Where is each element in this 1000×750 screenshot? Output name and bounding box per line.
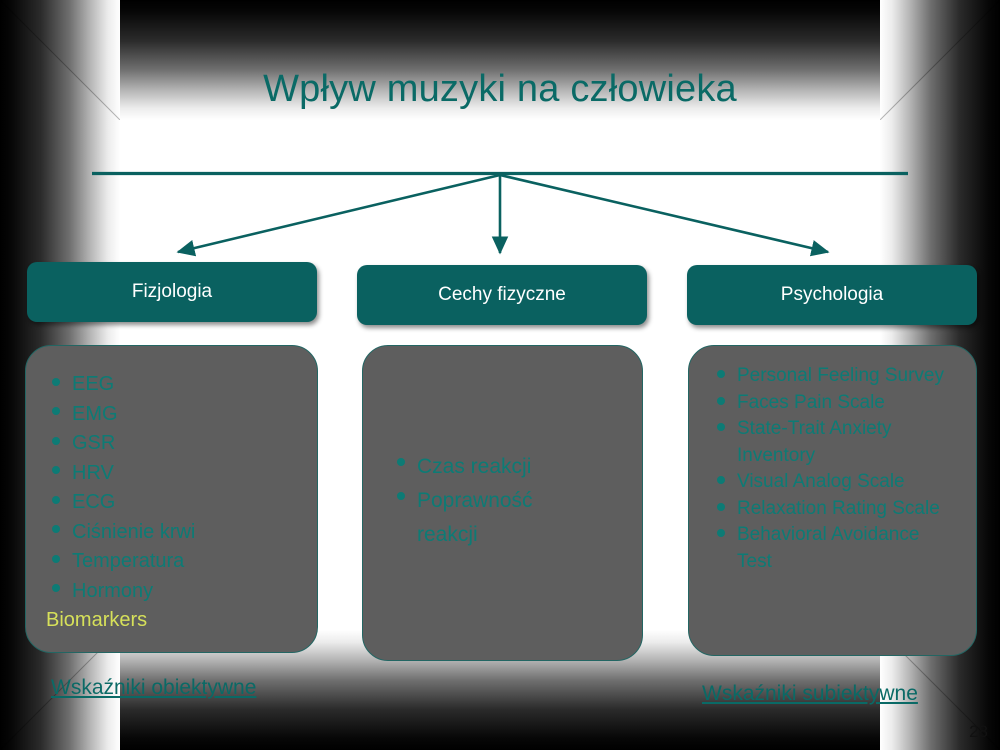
bullet-icon xyxy=(52,525,60,533)
list-item-label: Relaxation Rating Scale xyxy=(737,498,940,519)
list-item-label: GSR xyxy=(72,432,115,454)
bullet-icon xyxy=(717,423,725,431)
list-item-label: State-Trait Anxiety Inventory xyxy=(737,418,892,466)
list-item: Personal Feeling Survey xyxy=(711,363,952,390)
list-item: Behavioral Avoidance Test xyxy=(711,522,952,575)
arrow-to-psychologia xyxy=(500,175,828,252)
bullet-icon xyxy=(52,437,60,445)
list-item: ECG xyxy=(46,488,317,518)
branch-header-label: Fizjologia xyxy=(132,281,212,303)
slide-title: Wpływ muzyki na człowieka xyxy=(0,68,1000,111)
list-item-label: ECG xyxy=(72,491,115,513)
bullet-icon xyxy=(52,555,60,563)
branch-panel-psychologia: Personal Feeling Survey Faces Pain Scale… xyxy=(688,345,977,656)
branch-panel-cechy-fizyczne: Czas reakcji Poprawność reakcji xyxy=(362,345,643,661)
list-item: HRV xyxy=(46,459,317,489)
list-item-label: Ciśnienie krwi xyxy=(72,521,195,543)
list-item: Poprawność reakcji xyxy=(391,484,592,552)
bullet-icon xyxy=(52,466,60,474)
branch-item-list: Czas reakcji Poprawność reakcji xyxy=(391,450,642,552)
branch-panel-fizjologia: EEG EMG GSR HRV ECG Ciśnienie krwi Tempe… xyxy=(25,345,318,653)
bullet-icon xyxy=(52,584,60,592)
list-item: EMG xyxy=(46,400,317,430)
bullet-icon xyxy=(717,370,725,378)
bullet-icon xyxy=(52,496,60,504)
bullet-icon xyxy=(717,503,725,511)
caption-objective-indicators: Wskaźniki obiektywne xyxy=(51,676,256,700)
branch-header-cechy-fizyczne[interactable]: Cechy fizyczne xyxy=(357,265,647,325)
page-number: 28 xyxy=(969,722,988,742)
slide-canvas: Wpływ muzyki na człowieka Fizjologia Cec… xyxy=(0,0,1000,750)
list-item-label: EEG xyxy=(72,373,114,395)
list-item: Temperatura xyxy=(46,547,317,577)
list-item: EEG xyxy=(46,370,317,400)
list-item-label: Hormony xyxy=(72,580,153,602)
branch-header-label: Psychologia xyxy=(781,284,883,306)
list-item-label: HRV xyxy=(72,462,114,484)
list-item: Czas reakcji xyxy=(391,450,592,484)
list-item-label: Visual Analog Scale xyxy=(737,471,905,492)
bullet-icon xyxy=(397,458,405,466)
list-item: GSR xyxy=(46,429,317,459)
list-item: Relaxation Rating Scale xyxy=(711,496,952,523)
list-item-label: Faces Pain Scale xyxy=(737,392,885,413)
branch-item-list: EEG EMG GSR HRV ECG Ciśnienie krwi Tempe… xyxy=(46,370,317,606)
list-item-label: EMG xyxy=(72,403,118,425)
list-item: Faces Pain Scale xyxy=(711,390,952,417)
bullet-icon xyxy=(397,492,405,500)
biomarkers-highlight-text: Biomarkers xyxy=(46,606,317,636)
branch-header-label: Cechy fizyczne xyxy=(438,284,566,306)
branch-header-fizjologia[interactable]: Fizjologia xyxy=(27,262,317,322)
bullet-icon xyxy=(52,378,60,386)
list-item: Visual Analog Scale xyxy=(711,469,952,496)
bullet-icon xyxy=(52,407,60,415)
arrow-to-fizjologia xyxy=(178,175,500,252)
list-item-label: Personal Feeling Survey xyxy=(737,365,944,386)
list-item-label: Czas reakcji xyxy=(417,455,531,478)
bullet-icon xyxy=(717,397,725,405)
list-item: Ciśnienie krwi xyxy=(46,518,317,548)
caption-subjective-indicators: Wskaźniki subiektywne xyxy=(702,682,918,706)
list-item-label: Behavioral Avoidance Test xyxy=(737,524,919,572)
list-item: State-Trait Anxiety Inventory xyxy=(711,416,952,469)
bullet-icon xyxy=(717,529,725,537)
list-item-label: Poprawność reakcji xyxy=(417,489,533,546)
list-item-label: Temperatura xyxy=(72,550,184,572)
list-item: Hormony xyxy=(46,577,317,607)
branch-item-list: Personal Feeling Survey Faces Pain Scale… xyxy=(711,363,976,575)
branch-header-psychologia[interactable]: Psychologia xyxy=(687,265,977,325)
bullet-icon xyxy=(717,476,725,484)
